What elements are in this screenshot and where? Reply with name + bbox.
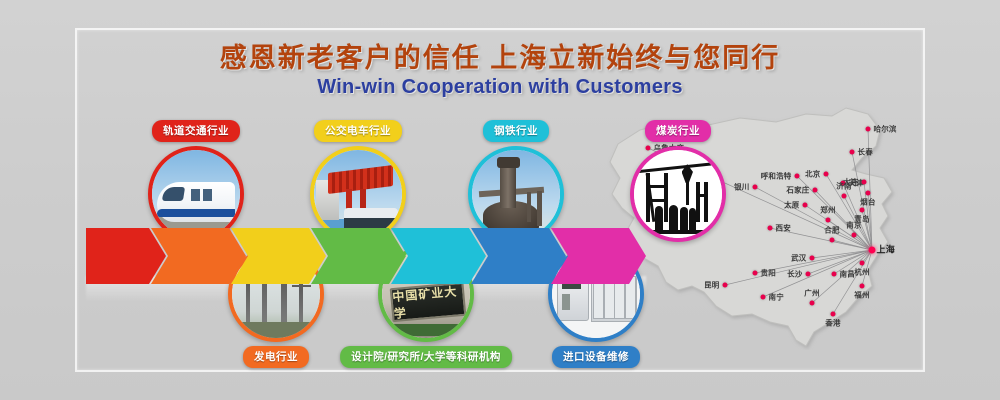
city-dot: [850, 150, 855, 155]
industry-chevron-ribbon: [86, 228, 646, 284]
industry-photo-steel: [468, 146, 564, 242]
map-city-上海: 上海: [869, 247, 876, 254]
industry-node-bus[interactable]: 公交电车行业: [310, 146, 406, 242]
city-dot: [810, 256, 815, 261]
industry-node-rail[interactable]: 轨道交通行业: [148, 146, 244, 242]
title-chinese: 感恩新老客户的信任 上海立新始终与您同行: [0, 44, 1000, 72]
map-city-武汉: 武汉: [810, 256, 815, 261]
city-dot: [860, 284, 865, 289]
city-label: 哈尔滨: [874, 126, 897, 134]
industry-label-import-repair: 进口设备维修: [552, 346, 640, 368]
title-english: Win-win Cooperation with Customers: [0, 76, 1000, 99]
city-label: 合肥: [824, 227, 839, 235]
map-city-福州: 福州: [860, 284, 865, 289]
city-dot: [852, 233, 857, 238]
map-city-广州: 广州: [810, 301, 815, 306]
industry-label-power: 发电行业: [243, 346, 309, 368]
map-city-南宁: 南宁: [761, 295, 766, 300]
map-city-呼和浩特: 呼和浩特: [795, 174, 800, 179]
industry-photo-coal: [630, 146, 726, 242]
city-dot: [842, 194, 847, 199]
city-dot: [803, 203, 808, 208]
industry-label-research: 设计院/研究所/大学等科研机构: [340, 346, 512, 368]
city-label: 贵阳: [761, 270, 776, 278]
map-city-长春: 长春: [850, 150, 855, 155]
city-dot: [866, 127, 871, 132]
city-label: 太原: [784, 202, 799, 210]
city-dot: [810, 301, 815, 306]
city-dot: [862, 180, 867, 185]
city-label: 长沙: [787, 271, 802, 279]
city-label: 西安: [776, 225, 791, 233]
city-label: 南宁: [769, 294, 784, 302]
city-label: 烟台: [860, 199, 875, 207]
plaque-text: 中国矿业大学: [391, 282, 464, 322]
industry-photo-bus: [310, 146, 406, 242]
city-label: 昆明: [704, 282, 719, 290]
map-city-郑州: 郑州: [826, 218, 831, 223]
city-label: 北京: [805, 171, 820, 179]
city-dot: [723, 283, 728, 288]
city-label: 呼和浩特: [761, 173, 792, 181]
city-dot: [831, 312, 836, 317]
map-city-昆明: 昆明: [723, 283, 728, 288]
map-city-大连: 大连: [862, 180, 867, 185]
map-city-哈尔滨: 哈尔滨: [866, 127, 871, 132]
map-city-济南: 济南: [842, 194, 847, 199]
map-city-青岛: 青岛: [860, 208, 865, 213]
map-city-杭州: 杭州: [860, 261, 865, 266]
industry-label-coal: 煤炭行业: [645, 120, 711, 142]
city-dot: [860, 208, 865, 213]
banner-stage: 哈尔滨长春乌鲁木齐呼和浩特北京天津大连银川石家庄济南烟台太原青岛郑州西安南京合肥…: [0, 0, 1000, 400]
map-city-贵阳: 贵阳: [753, 271, 758, 276]
city-dot: [869, 247, 876, 254]
city-dot: [866, 191, 871, 196]
map-city-烟台: 烟台: [866, 191, 871, 196]
banner-title-block: 感恩新老客户的信任 上海立新始终与您同行 Win-win Cooperation…: [0, 44, 1000, 99]
train-icon: [152, 150, 240, 238]
industry-label-rail: 轨道交通行业: [152, 120, 240, 142]
city-dot: [806, 272, 811, 277]
city-label: 香港: [825, 320, 840, 328]
city-label: 石家庄: [786, 187, 809, 195]
map-city-合肥: 合肥: [830, 238, 835, 243]
industry-label-steel: 钢铁行业: [483, 120, 549, 142]
industry-node-steel[interactable]: 钢铁行业: [468, 146, 564, 242]
industry-label-bus: 公交电车行业: [314, 120, 402, 142]
city-label: 郑州: [820, 207, 835, 215]
city-dot: [832, 272, 837, 277]
city-label: 福州: [854, 292, 869, 300]
map-city-长沙: 长沙: [806, 272, 811, 277]
city-label: 广州: [804, 290, 819, 298]
city-label: 南京: [846, 222, 861, 230]
map-city-南昌: 南昌: [832, 272, 837, 277]
city-dot: [753, 271, 758, 276]
city-dot: [813, 188, 818, 193]
drilling-rig-icon: [634, 150, 722, 238]
city-label: 杭州: [854, 269, 869, 277]
map-city-西安: 西安: [768, 226, 773, 231]
city-dot: [826, 218, 831, 223]
map-city-香港: 香港: [831, 312, 836, 317]
industry-node-coal[interactable]: 煤炭行业: [630, 146, 726, 242]
bus-pavilion-icon: [314, 150, 402, 238]
city-dot: [830, 238, 835, 243]
city-dot: [795, 174, 800, 179]
city-dot: [824, 172, 829, 177]
city-label: 长春: [858, 149, 873, 157]
map-city-太原: 太原: [803, 203, 808, 208]
city-label: 银川: [734, 184, 749, 192]
map-city-北京: 北京: [824, 172, 829, 177]
city-dot: [860, 261, 865, 266]
blast-furnace-icon: [472, 150, 560, 238]
city-label: 济南: [836, 183, 851, 191]
industry-photo-rail: [148, 146, 244, 242]
city-dot: [761, 295, 766, 300]
map-city-南京: 南京: [852, 233, 857, 238]
city-label: 南昌: [840, 271, 855, 279]
plaque-sign: 中国矿业大学: [389, 282, 466, 322]
city-label: 上海: [877, 246, 895, 255]
ribbon-chevron-0: [86, 228, 166, 284]
map-city-石家庄: 石家庄: [813, 188, 818, 193]
map-city-银川: 银川: [753, 185, 758, 190]
city-dot: [753, 185, 758, 190]
city-label: 武汉: [791, 255, 806, 263]
city-dot: [768, 226, 773, 231]
